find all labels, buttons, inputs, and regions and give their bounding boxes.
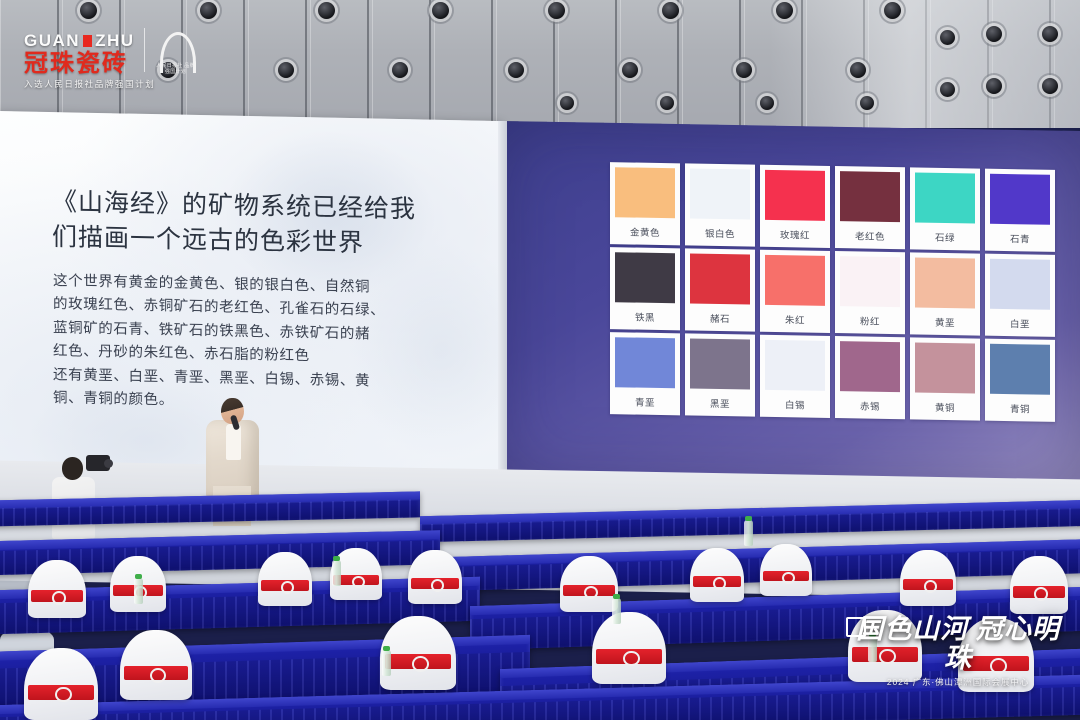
bottle-cap — [383, 646, 390, 651]
color-swatch-chip — [840, 171, 900, 222]
chair-sash-ring — [713, 577, 726, 590]
color-swatch-label: 银白色 — [690, 219, 750, 247]
color-swatch-chip — [840, 256, 900, 307]
color-swatch-label: 赭石 — [690, 304, 750, 332]
color-swatch-card: 铁黑 — [610, 247, 680, 330]
event-title: 国色山河 冠心明珠 — [852, 615, 1064, 672]
color-swatch-label: 朱红 — [765, 305, 825, 333]
wall-port-icon — [200, 2, 217, 19]
color-swatch-label: 青铜 — [990, 394, 1050, 422]
audience-chair — [690, 548, 744, 602]
brand-en-left: GUAN — [24, 31, 80, 51]
color-swatch-chip — [615, 337, 675, 388]
color-swatch-card: 青垩 — [610, 332, 680, 415]
color-swatch-chip — [990, 174, 1050, 225]
color-swatch-label: 青垩 — [615, 387, 675, 415]
water-bottle — [332, 560, 341, 586]
color-swatch-card: 玫瑰红 — [760, 165, 830, 248]
panel-left-edge — [498, 121, 507, 483]
color-swatch-card: 黑垩 — [685, 333, 755, 416]
wall-port-icon — [860, 96, 874, 110]
slide-body-text: 这个世界有黄金的金黄色、银的银白色、自然铜 的玫瑰红色、赤铜矿石的老红色、孔雀石… — [53, 270, 453, 419]
chair-sash-ring — [431, 579, 444, 592]
chair-sash-ring — [412, 656, 429, 672]
wall-port-icon — [760, 96, 774, 110]
wall-port-icon — [80, 2, 97, 19]
wall-port-icon — [548, 2, 565, 19]
color-swatch-card: 黄铜 — [910, 337, 980, 420]
wall-port-icon — [850, 62, 866, 78]
chair-sash-ring — [782, 572, 795, 584]
water-bottle — [612, 598, 621, 624]
bottle-cap — [135, 574, 142, 579]
wall-light-gradient — [770, 0, 1080, 128]
wall-port-icon — [622, 62, 638, 78]
event-seal-icon — [846, 617, 866, 637]
audience-chair — [380, 616, 456, 690]
slide-title: 《山海经》的矿物系统已经给我 们描画一个远古的色彩世界 — [52, 186, 462, 263]
color-swatch-chip — [690, 339, 750, 390]
color-swatch-chip — [915, 342, 975, 393]
water-bottle — [744, 520, 753, 546]
color-swatch-chip — [765, 170, 825, 221]
cameraman-head — [62, 457, 83, 480]
bottle-cap — [745, 516, 752, 521]
color-swatch-card: 青铜 — [985, 339, 1055, 422]
color-swatch-card: 白锡 — [760, 335, 830, 418]
wall-port-icon — [940, 82, 955, 97]
audience-chair — [408, 550, 462, 604]
peoples-daily-arch-icon: 人民日报社 品牌强国计划 — [154, 32, 196, 76]
wall-port-icon — [508, 62, 524, 78]
color-swatch-card: 白垩 — [985, 254, 1055, 337]
water-bottle — [134, 578, 143, 604]
wall-port-icon — [1042, 78, 1058, 94]
mineral-color-swatch-grid: 金黄色银白色玫瑰红老红色石绿石青铁黑赭石朱红粉红黄垩白垩青垩黑垩白锡赤锡黄铜青铜 — [610, 162, 1055, 422]
color-swatch-card: 黄垩 — [910, 252, 980, 335]
brand-divider — [144, 28, 145, 72]
color-swatch-card: 赤锡 — [835, 336, 905, 419]
brand-chinese-name: 冠珠瓷砖 — [24, 51, 135, 76]
color-swatch-card: 石绿 — [910, 167, 980, 250]
audience-chair — [592, 612, 666, 684]
color-swatch-chip — [990, 344, 1050, 395]
color-swatch-label: 铁黑 — [615, 302, 675, 330]
color-swatch-label: 赤锡 — [840, 391, 900, 419]
wall-port-icon — [318, 2, 335, 19]
wall-port-icon — [986, 78, 1002, 94]
wall-port-icon — [884, 2, 901, 19]
audience-chair — [28, 560, 86, 618]
audience-chair — [560, 556, 618, 612]
wall-port-icon — [776, 2, 793, 19]
camera-lens-icon — [104, 459, 113, 468]
color-swatch-label: 玫瑰红 — [765, 220, 825, 248]
brand-en-right: ZHU — [95, 31, 134, 51]
color-swatch-card: 老红色 — [835, 166, 905, 249]
color-swatch-label: 黑垩 — [690, 389, 750, 417]
color-swatch-chip — [690, 254, 750, 305]
color-swatch-label: 石绿 — [915, 222, 975, 250]
conference-stage-photo: GUAN ZHU 冠珠瓷砖 人民日报社 品牌强国计划 入选人民日报社品牌强国计划… — [0, 0, 1080, 720]
wall-port-icon — [662, 2, 679, 19]
color-swatch-chip — [990, 259, 1050, 310]
color-swatch-label: 白锡 — [765, 390, 825, 418]
event-subtitle: 2024 广东·佛山潭洲国际会展中心 — [852, 676, 1064, 688]
audience-chair — [760, 544, 812, 596]
color-swatch-chip — [765, 255, 825, 306]
color-swatch-chip — [840, 341, 900, 392]
wall-port-icon — [660, 96, 674, 110]
wall-port-icon — [432, 2, 449, 19]
audience-chair — [258, 552, 312, 606]
audience-chair — [900, 550, 956, 606]
color-swatch-label: 老红色 — [840, 221, 900, 249]
color-swatch-label: 白垩 — [990, 309, 1050, 337]
color-swatch-label: 粉红 — [840, 306, 900, 334]
audience-chair — [120, 630, 192, 700]
color-swatch-chip — [690, 169, 750, 220]
chair-sash-ring — [1034, 587, 1048, 600]
wall-port-icon — [392, 62, 408, 78]
bottle-cap — [613, 594, 620, 599]
color-swatch-card: 赭石 — [685, 248, 755, 331]
color-swatch-chip — [915, 172, 975, 223]
partner-mark-label: 人民日报社 品牌强国计划 — [156, 63, 196, 76]
chair-sash-ring — [281, 581, 294, 594]
brand-logo: GUAN ZHU 冠珠瓷砖 人民日报社 品牌强国计划 入选人民日报社品牌强国计划 — [24, 28, 204, 90]
wall-port-icon — [736, 62, 752, 78]
color-swatch-chip — [915, 257, 975, 308]
color-swatch-label: 黄垩 — [915, 307, 975, 335]
chair-sash-ring — [924, 580, 938, 593]
color-swatch-chip — [615, 167, 675, 218]
chair-sash-ring — [55, 687, 72, 703]
water-bottle — [382, 650, 391, 676]
brand-english-wordmark: GUAN ZHU — [24, 31, 135, 51]
color-swatch-card: 朱红 — [760, 250, 830, 333]
event-watermark: 国色山河 冠心明珠 2024 广东·佛山潭洲国际会展中心 — [852, 615, 1064, 688]
color-swatch-card: 石青 — [985, 169, 1055, 252]
wall-port-icon — [1042, 26, 1058, 42]
audience-chair — [24, 648, 98, 720]
chair-sash-ring — [623, 651, 640, 667]
color-swatch-card: 金黄色 — [610, 162, 680, 245]
color-swatch-label: 金黄色 — [615, 217, 675, 245]
wall-port-icon — [986, 26, 1002, 42]
color-swatch-label: 黄铜 — [915, 392, 975, 420]
wall-port-icon — [560, 96, 574, 110]
chair-sash-ring — [52, 591, 66, 604]
color-swatch-chip — [765, 340, 825, 391]
speaker-shirt — [226, 424, 241, 460]
bottle-cap — [333, 556, 340, 561]
brand-red-square-icon — [83, 35, 92, 47]
color-swatch-label: 石青 — [990, 224, 1050, 252]
chair-sash-ring — [352, 576, 365, 588]
audience-chair — [1010, 556, 1068, 614]
color-swatch-chip — [615, 252, 675, 303]
wall-port-icon — [278, 62, 294, 78]
wall-port-icon — [940, 30, 955, 45]
brand-subtitle: 入选人民日报社品牌强国计划 — [24, 78, 204, 90]
color-swatch-card: 银白色 — [685, 163, 755, 246]
color-swatch-card: 粉红 — [835, 251, 905, 334]
